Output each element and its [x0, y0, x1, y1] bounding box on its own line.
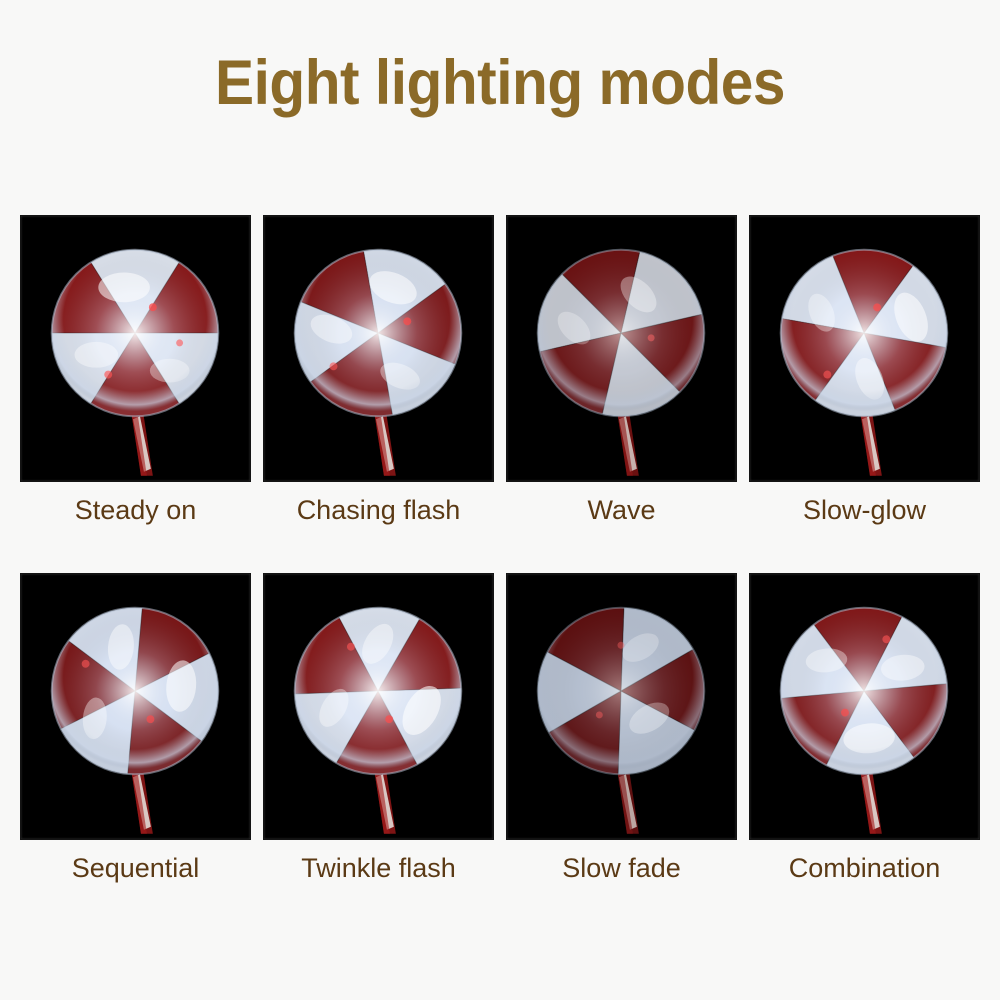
mode-label: Chasing flash: [297, 496, 461, 526]
peppermint-swirl-lollipop-light-icon: [507, 216, 736, 481]
mode-label: Slow-glow: [803, 496, 926, 526]
mode-cell[interactable]: Slow-glow: [749, 215, 980, 526]
peppermint-swirl-lollipop-light-icon: [750, 574, 979, 839]
mode-label: Sequential: [72, 854, 200, 884]
mode-photo-tile[interactable]: [20, 573, 251, 840]
page-title: Eight lighting modes: [35, 52, 965, 115]
mode-cell[interactable]: Sequential: [20, 573, 251, 884]
peppermint-swirl-lollipop-light-icon: [21, 216, 250, 481]
lighting-modes-grid: Steady on: [20, 215, 980, 883]
mode-label: Wave: [587, 496, 655, 526]
mode-cell[interactable]: Steady on: [20, 215, 251, 526]
mode-label: Slow fade: [562, 854, 681, 884]
peppermint-swirl-lollipop-light-icon: [750, 216, 979, 481]
mode-photo-tile[interactable]: [263, 215, 494, 482]
mode-photo-tile[interactable]: [506, 573, 737, 840]
mode-cell[interactable]: Chasing flash: [263, 215, 494, 526]
mode-cell[interactable]: Slow fade: [506, 573, 737, 884]
mode-photo-tile[interactable]: [506, 215, 737, 482]
peppermint-swirl-lollipop-light-icon: [507, 574, 736, 839]
peppermint-swirl-lollipop-light-icon: [264, 216, 493, 481]
peppermint-swirl-lollipop-light-icon: [21, 574, 250, 839]
peppermint-swirl-lollipop-light-icon: [264, 574, 493, 839]
mode-cell[interactable]: Wave: [506, 215, 737, 526]
mode-cell[interactable]: Twinkle flash: [263, 573, 494, 884]
mode-photo-tile[interactable]: [20, 215, 251, 482]
mode-photo-tile[interactable]: [263, 573, 494, 840]
mode-photo-tile[interactable]: [749, 215, 980, 482]
mode-photo-tile[interactable]: [749, 573, 980, 840]
mode-label: Twinkle flash: [301, 854, 456, 884]
mode-cell[interactable]: Combination: [749, 573, 980, 884]
mode-label: Combination: [789, 854, 941, 884]
mode-label: Steady on: [75, 496, 197, 526]
